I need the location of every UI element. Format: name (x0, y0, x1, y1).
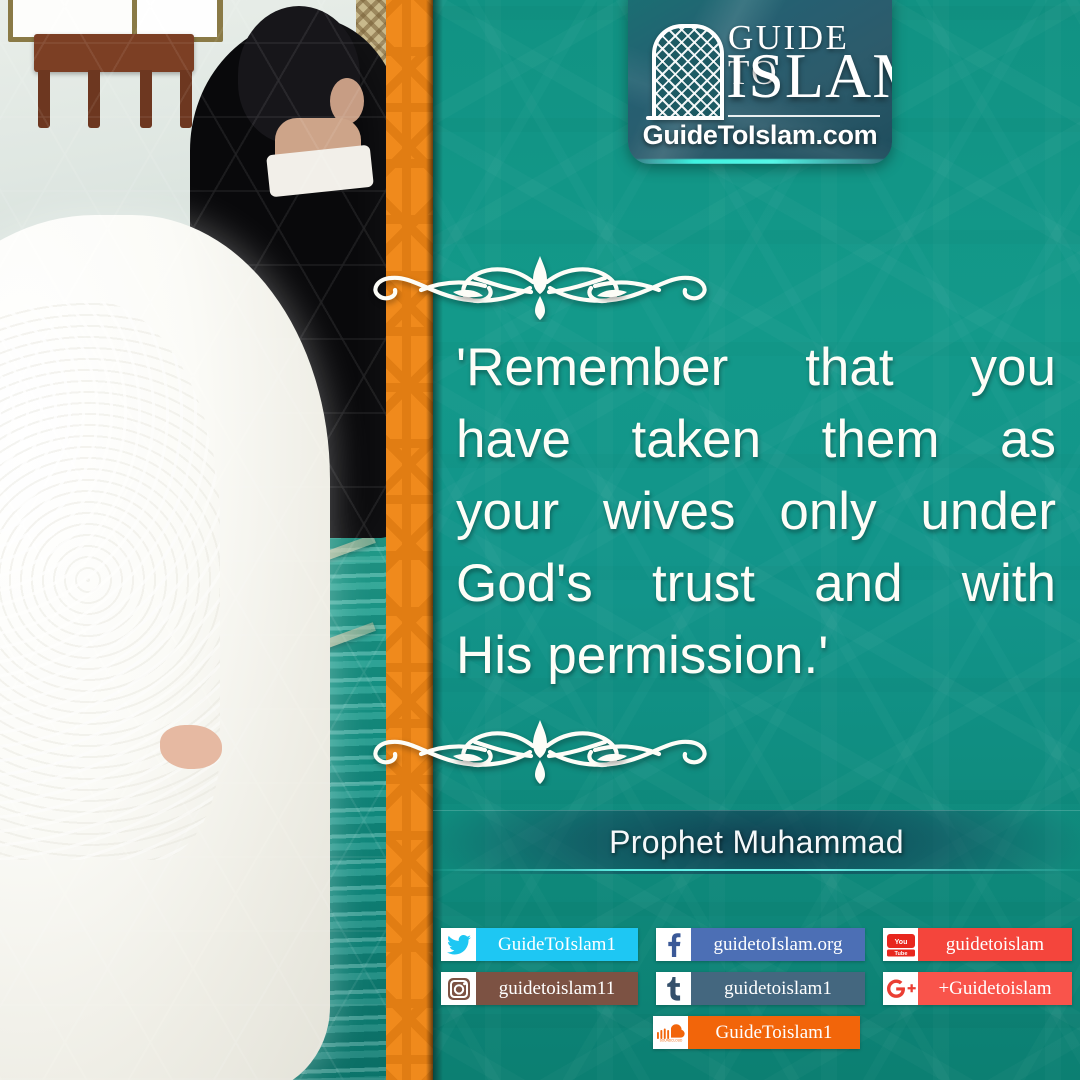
youtube-icon: TubeYouYou (883, 928, 918, 961)
strip-shadow (426, 0, 433, 1080)
logo-underline (728, 115, 880, 117)
social-handle: guidetoislam11 (476, 972, 638, 1005)
social-row: GuideToIslam1guidetoIslam.orgTubeYouYoug… (433, 928, 1080, 961)
social-handle: guidetoislam (918, 928, 1072, 961)
svg-text:Tube: Tube (894, 951, 907, 957)
tumblr-icon (656, 972, 691, 1005)
author-name: Prophet Muhammad (433, 810, 1080, 874)
photo-overlay-pattern (0, 0, 386, 1080)
mosque-arch-icon (652, 24, 724, 120)
author-banner: Prophet Muhammad (433, 810, 1080, 874)
orange-divider-strip (386, 0, 433, 1080)
social-link-googleplus[interactable]: +Guidetoislam (883, 972, 1072, 1005)
quote-text: 'Remember that you have taken them as yo… (456, 332, 1056, 692)
quote-line: His permission.' (456, 620, 1056, 692)
banner-bottom-glow (433, 869, 1080, 871)
twitter-icon (441, 928, 476, 961)
social-handle: GuideToIslam1 (476, 928, 638, 961)
social-link-soundcloud[interactable]: SOUNDCLOUDGuideToislam1 (653, 1016, 860, 1049)
social-link-youtube[interactable]: TubeYouYouguidetoislam (883, 928, 1072, 961)
googleplus-icon (883, 972, 918, 1005)
logo-glow-edge (628, 159, 892, 164)
social-link-tumblr[interactable]: guidetoislam1 (656, 972, 865, 1005)
quote-line: 'Remember that you (456, 332, 1056, 404)
social-handle: guidetoislam1 (691, 972, 865, 1005)
quote-line: have taken them as (456, 404, 1056, 476)
logo-line2: ISLAM (726, 44, 892, 108)
wedding-photo (0, 0, 386, 1080)
social-media-bar: GuideToIslam1guidetoIslam.orgTubeYouYoug… (433, 928, 1080, 1060)
social-link-facebook[interactable]: guidetoIslam.org (656, 928, 865, 961)
social-handle: guidetoIslam.org (691, 928, 865, 961)
quote-line: God's trust and with (456, 548, 1056, 620)
social-row: guidetoislam11guidetoislam1+Guidetoislam (433, 972, 1080, 1005)
soundcloud-icon: SOUNDCLOUD (653, 1016, 688, 1049)
logo-domain[interactable]: GuideToIslam.com (628, 120, 892, 151)
quote-card: GUIDE TO ISLAM GuideToIslam.com (0, 0, 1080, 1080)
svg-text:You: You (894, 939, 907, 946)
social-link-instagram[interactable]: guidetoislam11 (441, 972, 638, 1005)
quote-line: your wives only under (456, 476, 1056, 548)
panel-left-shadow (433, 0, 443, 1080)
facebook-icon (656, 928, 691, 961)
ornament-bottom (325, 712, 755, 786)
ornament-top (325, 248, 755, 322)
social-row: SOUNDCLOUDGuideToislam1 (433, 1016, 1080, 1049)
instagram-icon (441, 972, 476, 1005)
social-handle: +Guidetoislam (918, 972, 1072, 1005)
svg-text:SOUNDCLOUD: SOUNDCLOUD (659, 1038, 682, 1041)
social-link-twitter[interactable]: GuideToIslam1 (441, 928, 638, 961)
brand-logo[interactable]: GUIDE TO ISLAM GuideToIslam.com (628, 0, 892, 164)
social-handle: GuideToislam1 (688, 1016, 860, 1049)
